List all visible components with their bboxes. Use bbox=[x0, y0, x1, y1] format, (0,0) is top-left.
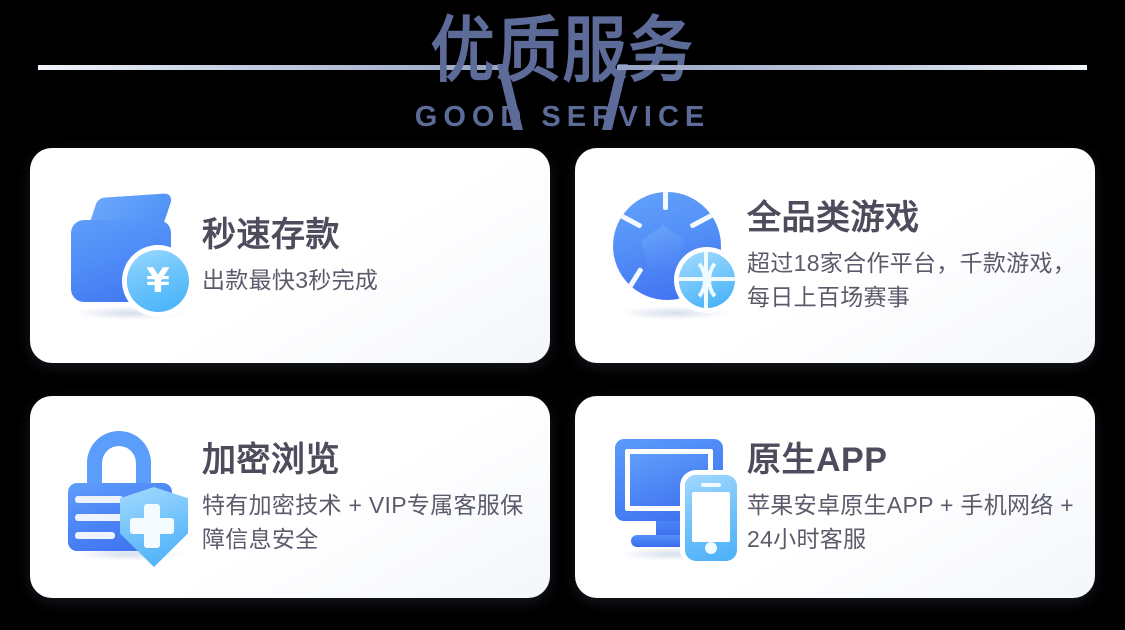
football-seam bbox=[617, 212, 642, 229]
header-rule-right bbox=[617, 65, 1087, 70]
wallet-yen-icon: ¥ bbox=[64, 186, 196, 326]
service-card-encryption[interactable]: 加密浏览 特有加密技术 + VIP专属客服保障信息安全 bbox=[30, 396, 550, 598]
page-header: 优质服务 GOOD SERVICE bbox=[0, 0, 1125, 145]
card-subtitle: 特有加密技术 + VIP专属客服保障信息安全 bbox=[202, 488, 536, 556]
phone-icon bbox=[685, 475, 737, 561]
football-seam bbox=[663, 192, 668, 210]
plus-icon bbox=[130, 518, 174, 534]
card-title: 加密浏览 bbox=[202, 439, 536, 481]
phone-speaker bbox=[701, 483, 721, 487]
card-subtitle: 苹果安卓原生APP + 手机网络 + 24小时客服 bbox=[747, 488, 1081, 556]
card-text: 加密浏览 特有加密技术 + VIP专属客服保障信息安全 bbox=[196, 439, 550, 556]
yen-coin-icon: ¥ bbox=[127, 250, 189, 312]
phone-screen bbox=[692, 492, 730, 542]
football-seam bbox=[689, 212, 714, 229]
phone-home-button bbox=[705, 542, 717, 554]
yen-symbol: ¥ bbox=[146, 264, 170, 298]
service-card-native-app[interactable]: 原生APP 苹果安卓原生APP + 手机网络 + 24小时客服 bbox=[575, 396, 1095, 598]
lock-shield-icon bbox=[64, 427, 196, 567]
card-title: 秒速存款 bbox=[202, 214, 536, 256]
card-subtitle: 出款最快3秒完成 bbox=[202, 263, 536, 297]
page-title: 优质服务 bbox=[0, 10, 1125, 93]
card-subtitle: 超过18家合作平台，千款游戏，每日上百场赛事 bbox=[747, 246, 1081, 314]
card-text: 原生APP 苹果安卓原生APP + 手机网络 + 24小时客服 bbox=[741, 439, 1095, 556]
basketball-seam bbox=[679, 256, 707, 304]
card-title: 全品类游戏 bbox=[747, 197, 1081, 239]
basketball-seam bbox=[707, 256, 735, 304]
service-card-deposit[interactable]: ¥ 秒速存款 出款最快3秒完成 bbox=[30, 148, 550, 363]
card-title: 原生APP bbox=[747, 439, 1081, 481]
football-basketball-icon bbox=[609, 186, 741, 326]
basketball-icon bbox=[679, 252, 735, 308]
page-subtitle: GOOD SERVICE bbox=[0, 101, 1125, 133]
card-text: 全品类游戏 超过18家合作平台，千款游戏，每日上百场赛事 bbox=[741, 197, 1095, 314]
monitor-phone-icon bbox=[609, 427, 741, 567]
service-card-grid: ¥ 秒速存款 出款最快3秒完成 bbox=[30, 148, 1095, 598]
icon-shadow bbox=[619, 306, 729, 320]
lock-stripe bbox=[75, 496, 123, 503]
lock-stripe bbox=[75, 532, 115, 539]
card-text: 秒速存款 出款最快3秒完成 bbox=[196, 214, 550, 297]
service-card-games[interactable]: 全品类游戏 超过18家合作平台，千款游戏，每日上百场赛事 bbox=[575, 148, 1095, 363]
